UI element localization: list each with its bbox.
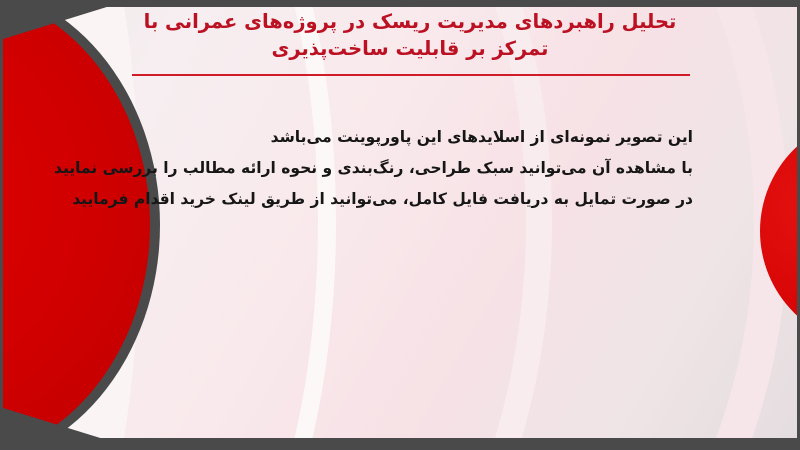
body-line-2: با مشاهده آن می‌توانید سبک طراحی، رنگ‌بن… xyxy=(120,153,693,184)
slide-body: این تصویر نمونه‌ای از اسلایدهای این پاور… xyxy=(120,122,693,215)
title-line-2: تمرکز بر قابلیت ساخت‌پذیری xyxy=(120,35,700,62)
frame-bottom-bar xyxy=(0,440,800,450)
title-divider xyxy=(132,74,690,76)
frame-top-bar xyxy=(0,0,800,7)
body-line-3: در صورت تمایل به دریافت فایل کامل، می‌تو… xyxy=(120,184,693,215)
frame-left-bar xyxy=(0,0,3,450)
title-line-1: تحلیل راهبردهای مدیریت ریسک در پروژه‌های… xyxy=(120,8,700,35)
slide-title: تحلیل راهبردهای مدیریت ریسک در پروژه‌های… xyxy=(120,8,700,62)
slide-canvas: تحلیل راهبردهای مدیریت ریسک در پروژه‌های… xyxy=(0,0,800,450)
body-line-1: این تصویر نمونه‌ای از اسلایدهای این پاور… xyxy=(120,122,693,153)
